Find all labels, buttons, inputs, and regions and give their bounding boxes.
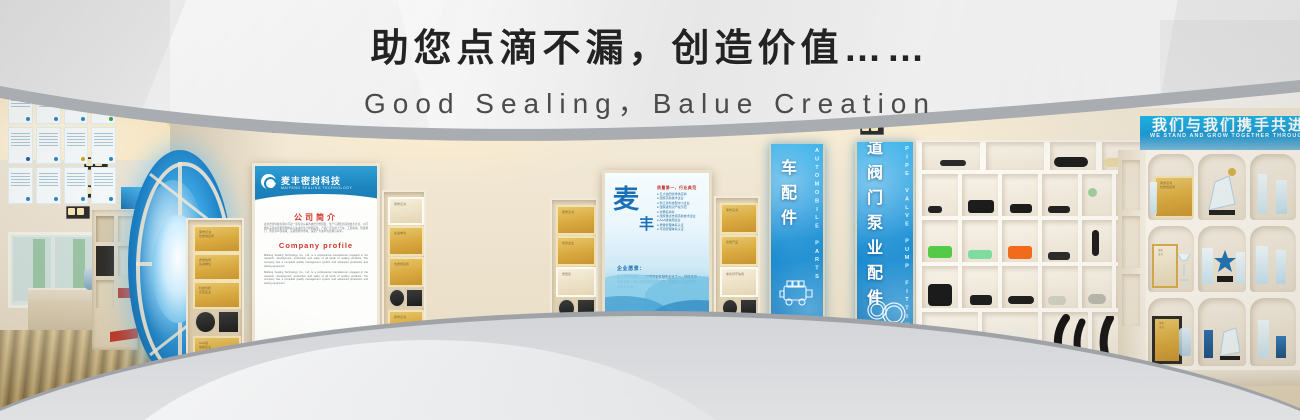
headline-en: Good Sealing，Balue Creation	[0, 82, 1300, 122]
hero-banner: 荣誉证书优秀供应商 质量信誉先进单位 科技创新示范企业 AAA级信用企业	[0, 0, 1300, 420]
headline-cn: 助您点滴不漏，创造价值……	[0, 28, 1300, 72]
headline-block: 助您点滴不漏，创造价值…… Good Sealing，Balue Creatio…	[0, 28, 1300, 122]
